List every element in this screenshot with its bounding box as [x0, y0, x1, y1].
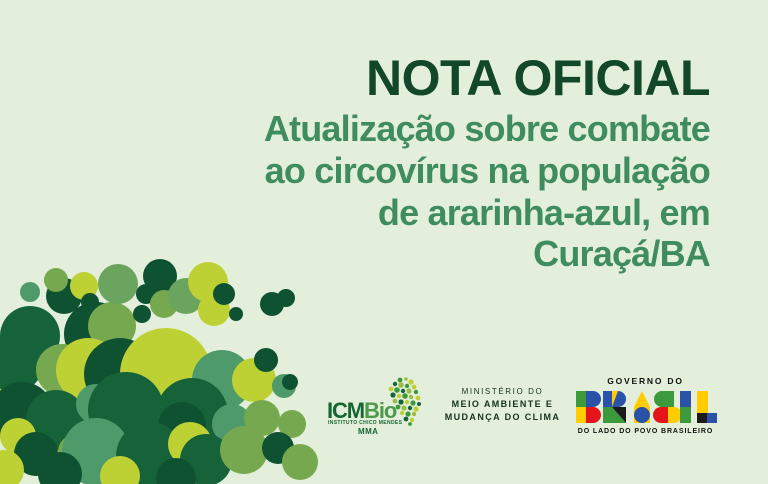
bubble-6 — [81, 293, 99, 311]
bubble-46 — [180, 434, 232, 484]
bubble-27 — [232, 358, 276, 402]
subtitle-line-3: de ararinha-azul, em — [110, 192, 710, 234]
headline-block: NOTA OFICIAL Atualização sobre combate a… — [110, 52, 710, 275]
subtitle-line-4: Curaçá/BA — [110, 233, 710, 275]
bubble-35 — [156, 378, 228, 450]
bubble-48 — [262, 432, 294, 464]
bubble-43 — [62, 418, 130, 484]
footer-logo-row: ICMBio INSTITUTO CHICO MENDES MMA MINIST… — [325, 374, 725, 448]
bubble-25 — [120, 328, 212, 420]
bubble-33 — [76, 384, 116, 424]
governo-tagline: DO LADO DO POVO BRASILEIRO — [573, 428, 718, 435]
poster-canvas: NOTA OFICIAL Atualização sobre combate a… — [0, 0, 768, 484]
bubble-39 — [278, 410, 306, 438]
bubble-3 — [20, 282, 40, 302]
bubble-9 — [136, 284, 156, 304]
bubble-53 — [156, 458, 196, 484]
bubble-16 — [213, 283, 235, 305]
bubble-42 — [58, 434, 94, 470]
bubble-36 — [158, 402, 206, 450]
bubble-21 — [0, 332, 44, 392]
ministry-line-1: MINISTÉRIO DO — [435, 386, 570, 398]
bubble-29 — [272, 374, 296, 398]
icmbio-wordmark: ICMBio — [327, 400, 396, 422]
bubble-20 — [0, 354, 28, 398]
governo-top-label: GOVERNO DO — [573, 376, 718, 386]
bubble-13 — [168, 278, 204, 314]
icmbio-institute-line: INSTITUTO CHICO MENDES — [328, 420, 402, 426]
bubble-38 — [244, 400, 280, 436]
bubble-26 — [192, 350, 252, 410]
bubble-40 — [0, 418, 36, 454]
bubble-30 — [282, 374, 298, 390]
bubble-28 — [254, 348, 278, 372]
subtitle-line-2: ao circovírus na população — [110, 150, 710, 192]
bubble-41 — [14, 432, 58, 476]
bubble-50 — [0, 450, 24, 484]
bubble-5 — [70, 272, 98, 300]
bubble-19 — [277, 289, 295, 307]
bubble-45 — [168, 422, 212, 466]
bubble-22 — [36, 344, 88, 396]
bubble-52 — [100, 456, 140, 484]
ministry-line-2: MEIO AMBIENTE E — [435, 398, 570, 411]
bubble-10 — [133, 305, 151, 323]
bubble-44 — [116, 422, 184, 484]
bubble-18 — [260, 292, 284, 316]
brasil-wordmark-icon — [575, 390, 717, 424]
ministry-line-3: MUDANÇA DO CLIMA — [435, 411, 570, 424]
bubble-2 — [46, 278, 82, 314]
bubble-0 — [0, 306, 60, 366]
bubble-32 — [26, 390, 86, 450]
bubble-12 — [150, 290, 178, 318]
bubble-15 — [198, 294, 230, 326]
bubble-34 — [88, 372, 164, 448]
bubble-7 — [88, 302, 136, 350]
green-bubbles-decoration — [0, 274, 320, 484]
bubble-47 — [220, 426, 268, 474]
bubble-1 — [64, 302, 128, 366]
page-subtitle: Atualização sobre combate ao circovírus … — [110, 108, 710, 275]
bubble-37 — [212, 404, 252, 444]
bubble-17 — [229, 307, 243, 321]
bubble-51 — [38, 452, 82, 484]
icmbio-mma-line: MMA — [358, 427, 378, 436]
bubble-23 — [56, 338, 120, 402]
bubble-24 — [84, 338, 156, 410]
bubble-4 — [44, 268, 68, 292]
page-title: NOTA OFICIAL — [110, 52, 710, 104]
bubble-49 — [282, 444, 318, 480]
icmbio-logo: ICMBio INSTITUTO CHICO MENDES MMA — [325, 384, 430, 438]
ministry-lockup: MINISTÉRIO DO MEIO AMBIENTE E MUDANÇA DO… — [435, 386, 570, 424]
bubble-31 — [0, 382, 54, 446]
subtitle-line-1: Atualização sobre combate — [110, 108, 710, 150]
governo-do-brasil-logo: GOVERNO DO — [573, 376, 718, 435]
